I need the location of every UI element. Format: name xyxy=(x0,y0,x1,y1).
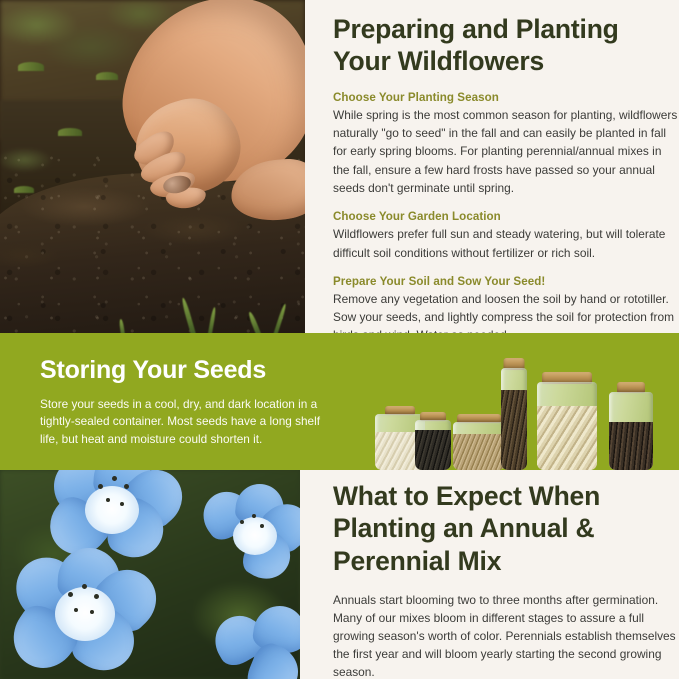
section-preparing-and-planting: Preparing and Planting Your Wildflowers … xyxy=(0,0,679,333)
subheading-prepare-soil: Prepare Your Soil and Sow Your Seed! xyxy=(333,274,679,290)
body-planting-season: While spring is the most common season f… xyxy=(333,106,679,196)
seed-jars-image xyxy=(369,342,679,470)
bloom-lower xyxy=(10,554,160,674)
infographic-page: Preparing and Planting Your Wildflowers … xyxy=(0,0,679,679)
preparing-subsections: Choose Your Planting Season While spring… xyxy=(333,78,679,345)
storing-text-column: Storing Your Seeds Store your seeds in a… xyxy=(40,357,330,449)
what-to-expect-text-column: What to Expect When Planting an Annual &… xyxy=(333,470,679,679)
blue-wildflowers-image xyxy=(0,470,300,679)
section-storing-your-seeds: Storing Your Seeds Store your seeds in a… xyxy=(0,333,679,470)
bloom-right xyxy=(200,490,300,582)
jar-tan-seeds xyxy=(453,414,505,470)
page-title-preparing: Preparing and Planting Your Wildflowers xyxy=(333,0,679,78)
body-what-to-expect: Annuals start blooming two to three mont… xyxy=(333,591,679,679)
subheading-planting-season: Choose Your Planting Season xyxy=(333,90,679,106)
jar-black-seeds xyxy=(415,412,451,470)
heading-storing-your-seeds: Storing Your Seeds xyxy=(40,357,330,385)
section-what-to-expect: What to Expect When Planting an Annual &… xyxy=(0,470,679,679)
body-storing-your-seeds: Store your seeds in a cool, dry, and dar… xyxy=(40,396,330,450)
heading-what-to-expect: What to Expect When Planting an Annual &… xyxy=(333,470,679,577)
jar-tall-tube-seeds xyxy=(501,358,527,470)
preparing-text-column: Preparing and Planting Your Wildflowers … xyxy=(333,0,679,333)
hand-sowing-seeds-in-soil-image xyxy=(0,0,305,333)
subheading-garden-location: Choose Your Garden Location xyxy=(333,209,679,225)
jar-striped-seeds xyxy=(609,382,653,470)
jar-large-flat-seeds xyxy=(537,372,597,470)
body-garden-location: Wildflowers prefer full sun and steady w… xyxy=(333,225,679,261)
